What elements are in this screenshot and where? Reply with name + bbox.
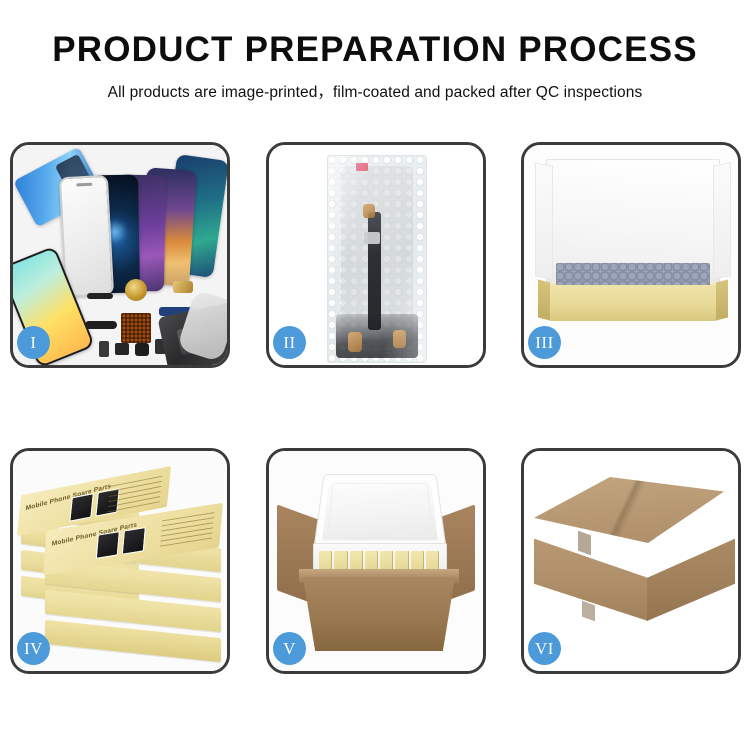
step-badge-1: I bbox=[17, 326, 50, 359]
yellow-box-base bbox=[548, 285, 718, 321]
carton-right-face bbox=[647, 523, 735, 621]
small-part-2 bbox=[115, 343, 129, 355]
step-badge-5: V bbox=[273, 632, 306, 665]
process-step-grid: I II bbox=[0, 142, 750, 674]
carton-body bbox=[303, 577, 455, 651]
process-step-2[interactable]: II bbox=[266, 142, 486, 368]
carton-tape-upper bbox=[578, 531, 591, 556]
bubble-wrap-bag bbox=[327, 155, 427, 363]
process-step-6[interactable]: VI bbox=[521, 448, 741, 674]
box-stack: Mobile Phone Spare Parts Mobile Phone Sp… bbox=[19, 475, 227, 665]
carton-tape-lower bbox=[582, 601, 595, 622]
gold-coil-component bbox=[125, 279, 147, 301]
page-header: PRODUCT PREPARATION PROCESS All products… bbox=[0, 0, 750, 102]
printed-screen-3 bbox=[96, 531, 120, 559]
page-title: PRODUCT PREPARATION PROCESS bbox=[0, 32, 750, 69]
process-step-3[interactable]: III bbox=[521, 142, 741, 368]
process-row-bottom: Mobile Phone Spare Parts Mobile Phone Sp… bbox=[0, 448, 750, 674]
step-badge-2: II bbox=[273, 326, 306, 359]
foam-box-lid bbox=[313, 474, 446, 548]
step-badge-6: VI bbox=[528, 632, 561, 665]
small-part-3 bbox=[135, 343, 149, 356]
copper-chip-grid bbox=[121, 313, 151, 343]
component-bar bbox=[87, 293, 113, 299]
process-step-4[interactable]: Mobile Phone Spare Parts Mobile Phone Sp… bbox=[10, 448, 230, 674]
flex-cable-1 bbox=[85, 321, 117, 329]
process-step-1[interactable]: I bbox=[10, 142, 230, 368]
process-row-top: I II bbox=[0, 142, 750, 368]
small-part-1 bbox=[99, 341, 109, 357]
printed-spec-lines-front bbox=[160, 512, 214, 547]
gold-connector bbox=[173, 281, 193, 293]
step-badge-4: IV bbox=[17, 632, 50, 665]
carton-top-seam bbox=[534, 477, 724, 543]
printed-screen-4 bbox=[122, 527, 146, 555]
printed-spec-lines-back bbox=[108, 476, 163, 513]
printed-screen-1 bbox=[69, 493, 94, 522]
process-step-5[interactable]: V bbox=[266, 448, 486, 674]
page-subtitle: All products are image-printed，film-coat… bbox=[0, 80, 750, 102]
plastic-sheen bbox=[328, 156, 426, 362]
step-badge-3: III bbox=[528, 326, 561, 359]
